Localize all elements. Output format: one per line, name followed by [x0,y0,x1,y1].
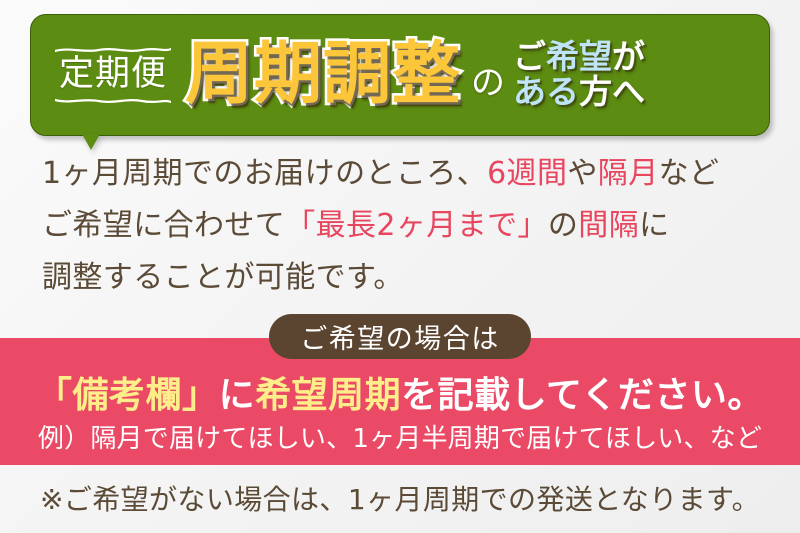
body-line1-highlight-6weeks: 6週間 [487,156,567,191]
body-line-3: 調整することが可能です。 [42,252,772,304]
promo-banner: 定期便 周期調整 の ご希望が ある方へ 1ヶ月周 [0,0,800,533]
wish-text-go: ご [513,37,546,76]
instruction-part-tail: を記載してください。 [401,375,764,416]
header-speech-bubble: 定期便 周期調整 の ご希望が ある方へ [30,14,770,136]
body-line3-text: 調整することが可能です。 [42,260,404,295]
header-particle: の [471,66,505,100]
wish-text-kibou: 希望 [546,37,612,76]
wish-text-aru: ある [513,72,579,111]
wish-text-ga: が [612,37,645,76]
body-line2-highlight-maxtwomonths: 「最長2ヶ月まで」 [285,200,548,252]
instruction-part-ni: に [219,375,256,416]
body-line1-part3: など [659,156,720,191]
body-line1-highlight-bimonthly: 隔月 [598,156,659,191]
body-line1-part2: や [567,156,597,191]
footnote-text: ※ご希望がない場合は、1ヶ月周期での発送となります。 [0,478,800,518]
request-case-badge-label: ご希望の場合は [300,317,500,356]
header-content-row: 定期便 周期調整 の ご希望が ある方へ [31,15,769,135]
header-wish-block: ご希望が ある方へ [513,40,645,110]
header-wish-line-2: ある方へ [513,75,645,110]
instruction-field-name: 「備考欄」 [36,375,219,416]
subscription-tag-label: 定期便 [59,57,167,92]
body-line-2: ご希望に合わせて「最長2ヶ月まで」の間隔に [42,200,772,252]
subscription-tag: 定期便 [55,46,171,104]
body-line2-part1: ご希望に合わせて [42,208,285,243]
instruction-example-text: 例）隔月で届けてほしい、1ヶ月半周期で届けてほしい、など [0,418,800,455]
body-line-1: 1ヶ月周期でのお届けのところ、6週間や隔月など [42,148,772,200]
body-line2-part2: の [548,200,578,252]
wave-line-bottom-icon [55,96,171,104]
header-main-title: 周期調整 [185,41,461,109]
body-line2-highlight-interval: 間隔 [578,200,639,252]
body-line2-part3: に [639,208,669,243]
body-copy: 1ヶ月周期でのお届けのところ、6週間や隔月など ご希望に合わせて「最長2ヶ月まで… [42,148,772,304]
body-line1-part1: 1ヶ月周期でのお届けのところ、 [42,156,487,191]
request-case-badge: ご希望の場合は [269,314,531,359]
instruction-main-text: 「備考欄」に希望周期を記載してください。 [0,366,800,418]
wave-line-top-icon [55,46,171,54]
instruction-desired-cycle: 希望周期 [255,375,401,416]
wish-text-katahe: 方へ [579,72,645,111]
header-wish-line-1: ご希望が [513,40,645,75]
